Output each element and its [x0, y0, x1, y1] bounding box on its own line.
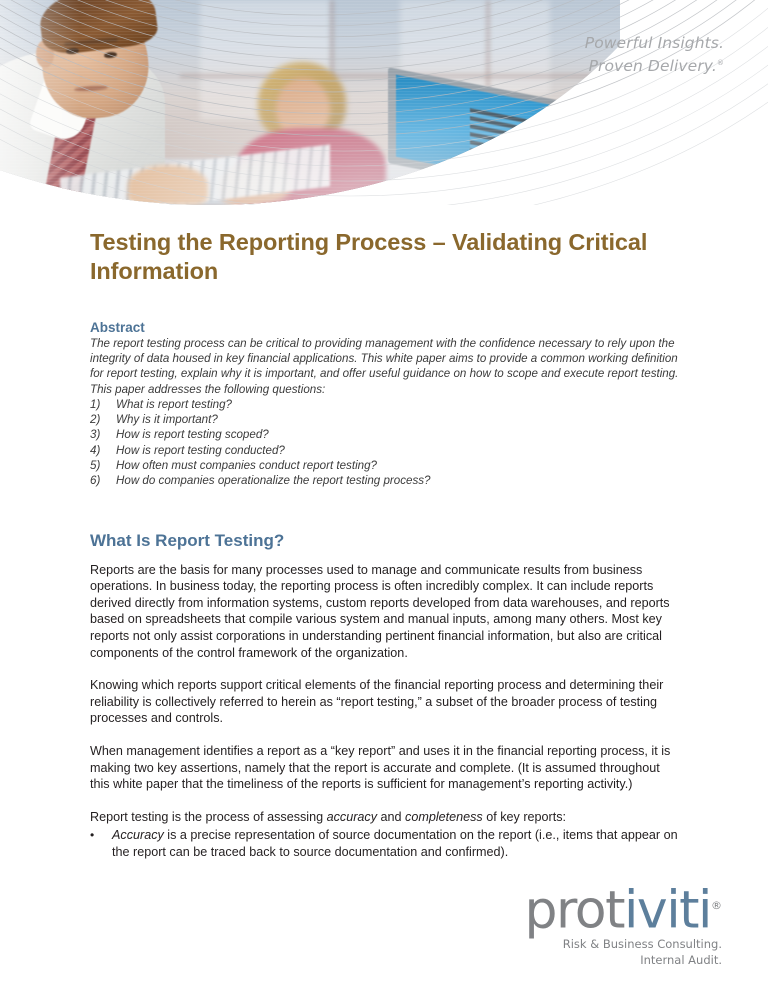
list-item-number: 2)	[90, 412, 116, 427]
header-banner: Powerful Insights. Proven Delivery.®	[0, 0, 768, 205]
header-photo-clip	[0, 0, 620, 205]
photo-swoosh-mask	[0, 0, 620, 205]
list-item-label: How do companies operationalize the repo…	[116, 473, 431, 488]
abstract-section: Abstract The report testing process can …	[90, 320, 680, 489]
tagline-line-2: Proven Delivery.®	[585, 53, 724, 76]
list-item: 3)How is report testing scoped?	[90, 427, 680, 442]
list-item-number: 6)	[90, 473, 116, 488]
logo-registered-mark-icon: ®	[711, 899, 722, 912]
body-paragraph-4: Report testing is the process of assessi…	[90, 809, 680, 826]
body-paragraph-3: When management identifies a report as a…	[90, 743, 680, 793]
list-item-label: Accuracy is a precise representation of …	[112, 827, 680, 860]
paragraph-4-emphasis-accuracy: accuracy	[327, 810, 377, 824]
list-item-label: What is report testing?	[116, 397, 232, 412]
paragraph-4-emphasis-completeness: completeness	[405, 810, 483, 824]
logo-tagline-line-2: Internal Audit.	[525, 953, 722, 968]
list-item-number: 5)	[90, 458, 116, 473]
body-paragraph-1: Reports are the basis for many processes…	[90, 562, 680, 662]
list-item-label: How is report testing conducted?	[116, 443, 285, 458]
paragraph-4-mid: and	[377, 810, 405, 824]
paragraph-4-pre: Report testing is the process of assessi…	[90, 810, 327, 824]
protiviti-logo: protiviti® Risk & Business Consulting. I…	[525, 880, 722, 968]
document-body: Testing the Reporting Process – Validati…	[90, 228, 680, 863]
paragraph-4-post: of key reports:	[483, 810, 566, 824]
abstract-heading: Abstract	[90, 320, 680, 335]
logo-wordmark-iviti: iviti	[624, 880, 711, 940]
page-title: Testing the Reporting Process – Validati…	[90, 228, 680, 286]
bullet-emphasis-accuracy: Accuracy	[112, 828, 164, 842]
bullet-dot-icon: •	[90, 827, 112, 860]
list-item: 2)Why is it important?	[90, 412, 680, 427]
list-item-number: 1)	[90, 397, 116, 412]
brand-tagline: Powerful Insights. Proven Delivery.®	[585, 33, 724, 76]
list-item-number: 3)	[90, 427, 116, 442]
list-item-label: How is report testing scoped?	[116, 427, 269, 442]
bullet-text: is a precise representation of source do…	[112, 828, 678, 859]
list-item: 1)What is report testing?	[90, 397, 680, 412]
header-photo	[0, 0, 620, 205]
photo-edge-fade	[0, 0, 620, 205]
logo-wordmark-prot: prot	[525, 880, 624, 940]
tagline-line-1: Powerful Insights.	[585, 33, 724, 53]
list-item-label: Why is it important?	[116, 412, 218, 427]
logo-wordmark: protiviti®	[525, 880, 722, 936]
abstract-question-list: 1)What is report testing? 2)Why is it im…	[90, 397, 680, 489]
list-item: • Accuracy is a precise representation o…	[90, 827, 680, 860]
registered-mark-icon: ®	[717, 59, 724, 67]
list-item: 4)How is report testing conducted?	[90, 443, 680, 458]
tagline-line-2-text: Proven Delivery.	[589, 57, 717, 75]
abstract-text: The report testing process can be critic…	[90, 336, 680, 397]
list-item-number: 4)	[90, 443, 116, 458]
definition-bullet-list: • Accuracy is a precise representation o…	[90, 827, 680, 860]
section-heading-what-is-report-testing: What Is Report Testing?	[90, 531, 680, 551]
list-item-label: How often must companies conduct report …	[116, 458, 377, 473]
body-paragraph-2: Knowing which reports support critical e…	[90, 677, 680, 727]
list-item: 6)How do companies operationalize the re…	[90, 473, 680, 488]
list-item: 5)How often must companies conduct repor…	[90, 458, 680, 473]
